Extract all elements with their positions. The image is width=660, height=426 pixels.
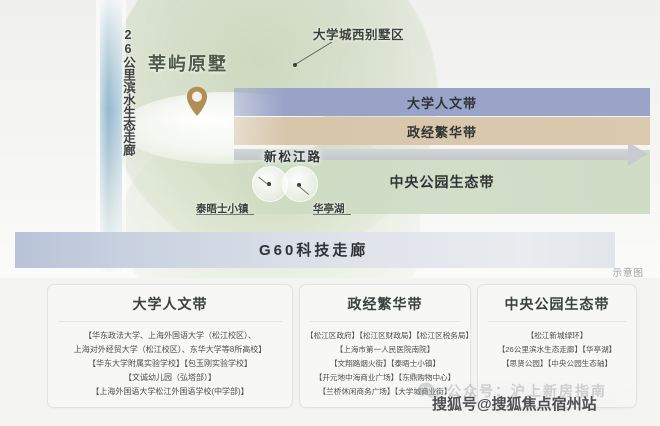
waterfront-label: 26公里滨水生态走廊	[116, 28, 136, 156]
card-list: 【华东政法大学、上海外国语大学（松江校区）、 上海对外经贸大学（松江校区）、东华…	[48, 329, 292, 399]
card-title: 大学人文带	[48, 285, 292, 321]
card-title: 政经繁华带	[300, 285, 470, 321]
belt-government-commerce: 政经繁华带	[234, 117, 650, 145]
annotation-anchor-dot	[293, 63, 297, 67]
map-illustration: 26公里滨水生态走廊 莘屿原墅 大学城西别墅区 大学人文带 政经繁华带 中央公园…	[0, 0, 660, 278]
belt-label: 大学人文带	[407, 93, 477, 112]
card-line: 【松江区政府】【松江区财政局】【松江区税务局】	[306, 329, 464, 343]
annotation-villa-district: 大学城西别墅区	[313, 24, 404, 43]
project-name: 莘屿原墅	[148, 50, 228, 76]
card-list: 【松江新城绿环】 【26公里滨水生态走廊】【华亭湖】 【思贤公园】【中央公园生态…	[478, 329, 636, 371]
card-divider	[58, 321, 282, 322]
road-label: 新松江路	[264, 146, 322, 165]
card-line: 【文翔路烟火街】【泰晤士小镇】	[306, 357, 464, 371]
schematic-note: 示意图	[612, 265, 644, 278]
infographic-page: 26公里滨水生态走廊 莘屿原墅 大学城西别墅区 大学人文带 政经繁华带 中央公园…	[0, 0, 660, 426]
map-pin-icon	[186, 86, 208, 116]
poi-label-huating-lake: 华亭湖	[313, 201, 345, 216]
card-line: 【上海外国语大学松江外国语学校(中学部)】	[54, 385, 286, 399]
watermark-sohu: 搜狐号@搜狐焦点宿州站	[432, 393, 597, 414]
card-line: 【华东政法大学、上海外国语大学（松江校区）、	[54, 329, 286, 343]
card-line: 【华东大学附属实验学校】【包玉刚实验学校】	[54, 357, 286, 371]
card-line: 上海对外经贸大学（松江校区）、东华大学等8所高校】	[54, 343, 286, 357]
poi-label-thames-town: 泰晤士小镇	[196, 201, 249, 216]
card-line: 【上海市第一人民医院南院】	[306, 343, 464, 357]
belt-label: 政经繁华带	[407, 122, 477, 141]
card-divider	[310, 321, 460, 322]
card-divider	[488, 321, 626, 322]
road-arrow-icon	[628, 142, 648, 166]
card-line: 【文诚幼儿园（弘塔部）】	[54, 371, 286, 385]
belt-university-humanities: 大学人文带	[234, 88, 650, 116]
card-line: 【松江新城绿环】	[484, 329, 630, 343]
belt-label: 中央公园生态带	[390, 172, 495, 192]
card-line: 【26公里滨水生态走廊】【华亭湖】	[484, 343, 630, 357]
card-university-humanities: 大学人文带 【华东政法大学、上海外国语大学（松江校区）、 上海对外经贸大学（松江…	[47, 284, 293, 408]
card-line: 【思贤公园】【中央公园生态轴】	[484, 357, 630, 371]
card-title: 中央公园生态带	[478, 285, 636, 321]
g60-corridor-label: G60科技走廊	[259, 239, 368, 260]
